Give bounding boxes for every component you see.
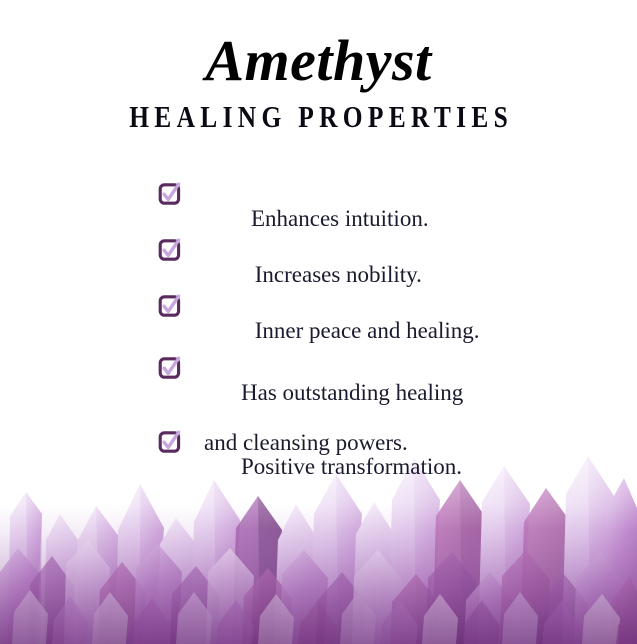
list-item-line-1: Positive transformation. [241, 454, 462, 479]
checkbox-checked-icon[interactable] [158, 430, 182, 454]
list-item-line-1: Has outstanding healing [241, 380, 463, 405]
checkbox-checked-icon[interactable] [158, 238, 182, 262]
checkbox-checked-icon[interactable] [158, 294, 182, 318]
page-subtitle: HEALING PROPERTIES [57, 90, 579, 132]
header: Amethyst HEALING PROPERTIES [0, 0, 637, 132]
amethyst-healing-properties-card: Amethyst HEALING PROPERTIES Enhances int… [0, 0, 637, 644]
page-title: Amethyst [0, 0, 637, 90]
list-item-line-1: Enhances intuition. [251, 206, 429, 231]
list-item-label: Positive transformation. [195, 429, 462, 504]
list-item-line-1: Increases nobility. [249, 262, 422, 287]
checkbox-checked-icon[interactable] [158, 356, 182, 380]
list-item-line-1: Inner peace and healing. [249, 318, 480, 343]
checkbox-checked-icon[interactable] [158, 182, 182, 206]
